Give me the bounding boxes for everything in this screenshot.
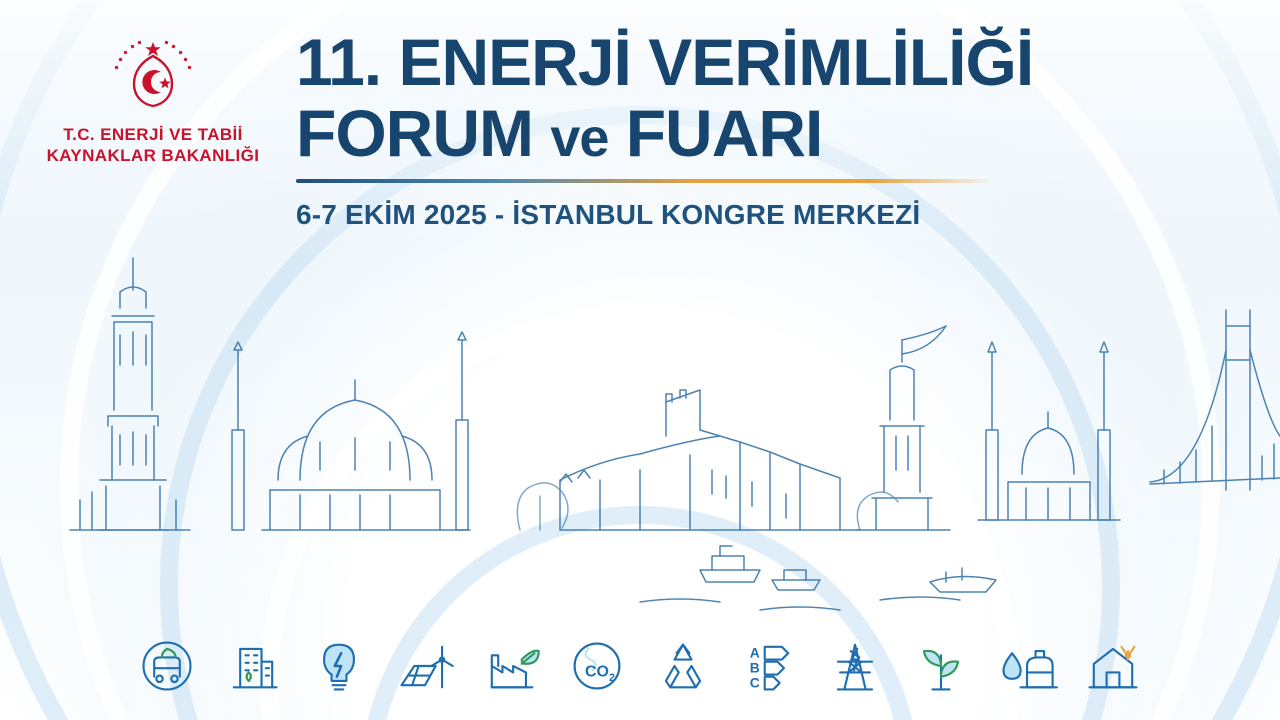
event-title-forum: FORUM — [296, 96, 533, 170]
bosphorus-bridge-icon — [1150, 310, 1280, 490]
event-poster: T.C. ENERJİ VE TABİİ KAYNAKLAR BAKANLIĞI… — [0, 0, 1280, 720]
event-title-line-1: 11. ENERJİ VERİMLİLİĞİ — [296, 32, 1196, 93]
co2-icon: CO 2 — [565, 630, 629, 702]
biomass-leaf-icon — [909, 630, 973, 702]
ortakoy-mosque-icon — [978, 342, 1120, 520]
solar-wind-icon — [393, 630, 457, 702]
ministry-name-line-1: T.C. ENERJİ VE TABİİ — [28, 124, 278, 145]
istanbul-skyline-line-art — [0, 230, 1280, 630]
maidens-tower-icon — [856, 326, 950, 530]
event-title-ve: ve — [550, 108, 608, 168]
power-pylon-icon — [823, 630, 887, 702]
ministry-logo-block: T.C. ENERJİ VE TABİİ KAYNAKLAR BAKANLIĞI — [28, 36, 278, 167]
event-title-fuari: FUARI — [626, 96, 823, 170]
svg-text:CO: CO — [585, 664, 609, 681]
energy-efficient-home-icon — [1081, 630, 1145, 702]
svg-text:B: B — [750, 659, 760, 675]
led-bulb-icon — [307, 630, 371, 702]
bosphorus-water-icon — [640, 546, 996, 610]
galata-tower-icon — [70, 258, 190, 530]
industry-leaf-icon — [479, 630, 543, 702]
smart-building-icon — [221, 630, 285, 702]
svg-text:A: A — [750, 644, 760, 660]
svg-text:2: 2 — [609, 672, 615, 684]
headline-divider — [296, 179, 996, 183]
water-gas-storage-icon — [995, 630, 1059, 702]
recycle-icon — [651, 630, 715, 702]
svg-text:C: C — [750, 674, 760, 690]
hagia-sophia-icon — [232, 332, 470, 530]
event-date-venue: 6-7 EKİM 2025 - İSTANBUL KONGRE MERKEZİ — [296, 199, 1196, 231]
trees-icon — [517, 483, 898, 530]
turkish-ministry-crest-icon — [107, 36, 199, 112]
sustainable-transport-icon — [135, 630, 199, 702]
energy-label-icon: A B C — [737, 630, 801, 702]
icon-strip: CO 2 A B C — [0, 620, 1280, 712]
rumeli-fortress-icon — [560, 390, 860, 530]
headline-block: 11. ENERJİ VERİMLİLİĞİ FORUM ve FUARI 6-… — [296, 32, 1196, 231]
event-title-line-2: FORUM ve FUARI — [296, 103, 1196, 164]
ministry-name-line-2: KAYNAKLAR BAKANLIĞI — [28, 145, 278, 166]
